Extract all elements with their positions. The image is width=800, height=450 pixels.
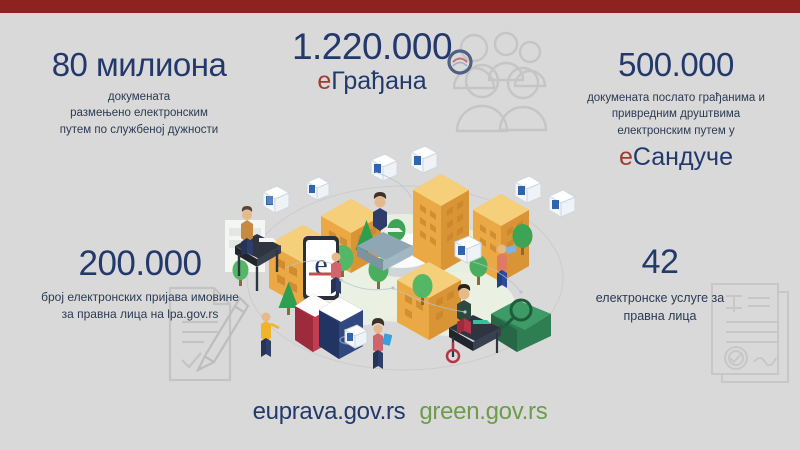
desc-line: размењено електронским <box>14 105 264 122</box>
desc-line: привредним друштвима <box>552 106 800 123</box>
stat-emailbox: 500.000 докумената послато грађанима и п… <box>552 48 800 171</box>
desc-line: докумената послато грађанима и <box>552 90 800 107</box>
stat-number-eservices: 42 <box>548 245 772 280</box>
desc-line: за правна лица на lpa.gov.rs <box>2 306 278 323</box>
stat-number-property: 200.000 <box>2 246 278 282</box>
footer-links: euprava.gov.rsgreen.gov.rs <box>0 398 800 426</box>
link-green[interactable]: green.gov.rs <box>419 398 547 425</box>
brand-ecitizens: еГрађана <box>262 67 482 96</box>
stat-documents-exchanged: 80 милиона докумената размењено електрон… <box>14 48 264 139</box>
brand-prefix-e: е <box>619 143 633 171</box>
stat-property-filings: 200.000 број електронских пријава имовин… <box>2 246 278 323</box>
top-accent-bar <box>0 0 800 13</box>
brand-prefix-e: е <box>317 67 331 95</box>
stat-eservices: 42 електронске услуге за правна лица <box>548 245 772 325</box>
brand-rest: Сандуче <box>633 143 733 171</box>
brand-rest: Грађана <box>331 67 426 95</box>
desc-line: правна лица <box>548 307 772 325</box>
link-euprava[interactable]: euprava.gov.rs <box>253 398 406 425</box>
desc-line: електронским путем у <box>552 123 800 140</box>
infographic-poster: e <box>0 0 800 450</box>
stat-number-emailbox: 500.000 <box>552 48 800 82</box>
stat-description-documents: докумената размењено електронским путем … <box>14 89 264 139</box>
stat-number-ecitizens: 1.220.000 <box>262 28 482 66</box>
desc-line: електронске услуге за <box>548 289 772 307</box>
stat-ecitizens: 1.220.000 еГрађана <box>262 28 482 95</box>
brand-emailbox: еСандуче <box>552 143 800 172</box>
desc-line: број електронских пријава имовине <box>2 289 278 306</box>
desc-line: докумената <box>14 89 264 106</box>
isometric-city-illustration: e <box>225 128 585 376</box>
stat-number-documents: 80 милиона <box>14 48 264 82</box>
svg-text:e: e <box>314 248 327 281</box>
desc-line: путем по службеној дужности <box>14 122 264 139</box>
stat-description-property: број електронских пријава имовине за пра… <box>2 289 278 324</box>
stat-description-emailbox: докумената послато грађанима и привредни… <box>552 90 800 140</box>
stat-description-eservices: електронске услуге за правна лица <box>548 289 772 325</box>
